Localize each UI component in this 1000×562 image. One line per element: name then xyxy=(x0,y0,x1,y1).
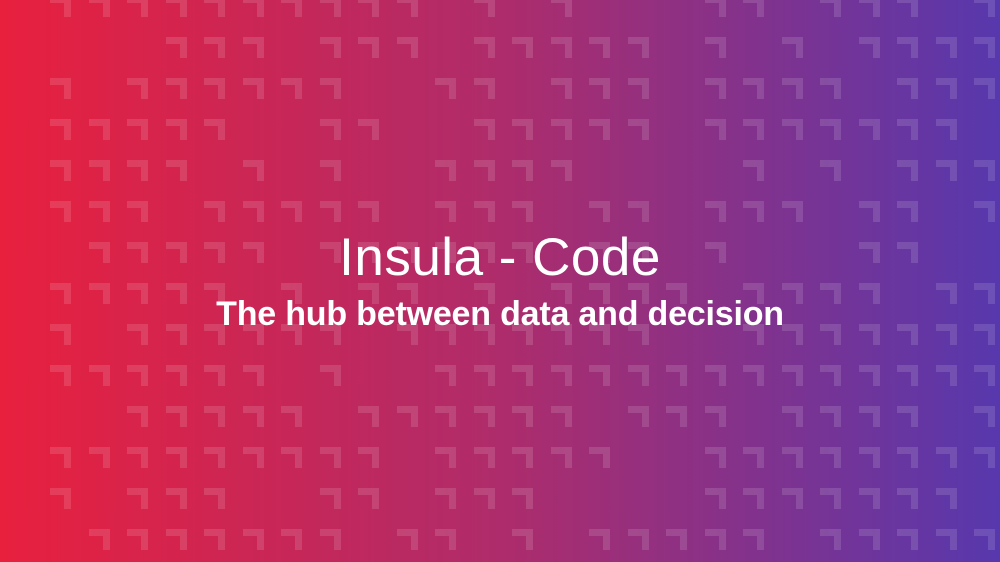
page-subtitle: The hub between data and decision xyxy=(216,296,784,333)
page-title: Insula - Code xyxy=(339,229,661,286)
slide-content: Insula - Code The hub between data and d… xyxy=(0,0,1000,562)
title-slide: Insula - Code The hub between data and d… xyxy=(0,0,1000,562)
